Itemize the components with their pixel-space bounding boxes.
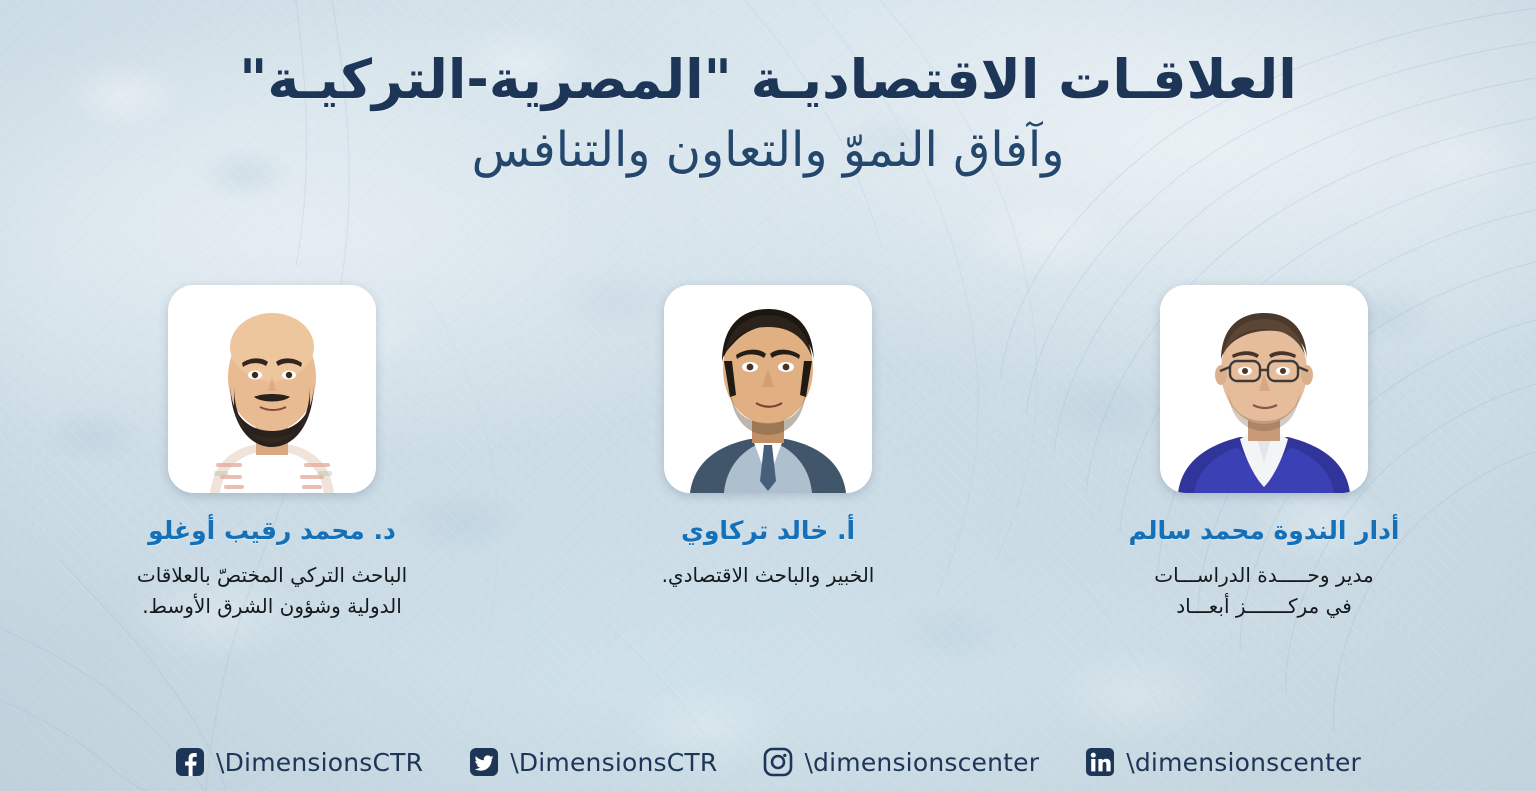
speaker-card-2: أ. خالد تركاوي الخبير والباحث الاقتصادي. (618, 285, 918, 591)
page-subtitle: وآفاق النموّ والتعاون والتنافس (0, 120, 1536, 180)
speaker-name-1: د. محمد رقيب أوغلو (122, 515, 422, 546)
twitter-handle[interactable]: \DimensionsCTR (510, 748, 717, 777)
seminar-poster: العلاقـات الاقتصاديـة "المصرية-التركيـة"… (0, 0, 1536, 791)
speaker-photo-frame-3 (1160, 285, 1368, 493)
speakers-row: د. محمد رقيب أوغلو الباحث التركي المختصّ… (0, 285, 1536, 622)
speaker-role-line-3b: في مركـــــــز أبعـــاد (1114, 591, 1414, 622)
social-item-twitter[interactable]: \DimensionsCTR (469, 747, 717, 777)
speaker-role-3: مدير وحـــــدة الدراســـات في مركـــــــ… (1114, 560, 1414, 622)
speaker-name-2: أ. خالد تركاوي (618, 515, 918, 546)
linkedin-handle[interactable]: \dimensionscenter (1126, 748, 1361, 777)
linkedin-icon[interactable] (1085, 747, 1115, 777)
social-item-instagram[interactable]: \dimensionscenter (763, 747, 1039, 777)
portrait-photo-2 (664, 285, 872, 493)
speaker-name-3: أدار الندوة محمد سالم (1114, 515, 1414, 546)
speaker-photo-frame-2 (664, 285, 872, 493)
twitter-icon[interactable] (469, 747, 499, 777)
instagram-icon[interactable] (763, 747, 793, 777)
portrait-photo-3 (1160, 285, 1368, 493)
speaker-role-2: الخبير والباحث الاقتصادي. (618, 560, 918, 591)
speaker-role-line-2a: الخبير والباحث الاقتصادي. (618, 560, 918, 591)
speaker-photo-frame-1 (168, 285, 376, 493)
page-title: العلاقـات الاقتصاديـة "المصرية-التركيـة" (0, 48, 1536, 112)
speaker-role-line-3a: مدير وحـــــدة الدراســـات (1114, 560, 1414, 591)
facebook-handle[interactable]: \DimensionsCTR (216, 748, 423, 777)
speaker-card-3: أدار الندوة محمد سالم مدير وحـــــدة الد… (1114, 285, 1414, 622)
social-item-facebook[interactable]: \DimensionsCTR (175, 747, 423, 777)
speaker-role-line-1b: الدولية وشؤون الشرق الأوسط. (122, 591, 422, 622)
facebook-icon[interactable] (175, 747, 205, 777)
social-item-linkedin[interactable]: \dimensionscenter (1085, 747, 1361, 777)
speaker-role-line-1a: الباحث التركي المختصّ بالعلاقات (122, 560, 422, 591)
speaker-role-1: الباحث التركي المختصّ بالعلاقات الدولية … (122, 560, 422, 622)
speaker-card-1: د. محمد رقيب أوغلو الباحث التركي المختصّ… (122, 285, 422, 622)
instagram-handle[interactable]: \dimensionscenter (804, 748, 1039, 777)
portrait-photo-1 (168, 285, 376, 493)
social-links-bar: \DimensionsCTR \DimensionsCTR \dimension… (0, 747, 1536, 777)
poster-heading: العلاقـات الاقتصاديـة "المصرية-التركيـة"… (0, 48, 1536, 180)
